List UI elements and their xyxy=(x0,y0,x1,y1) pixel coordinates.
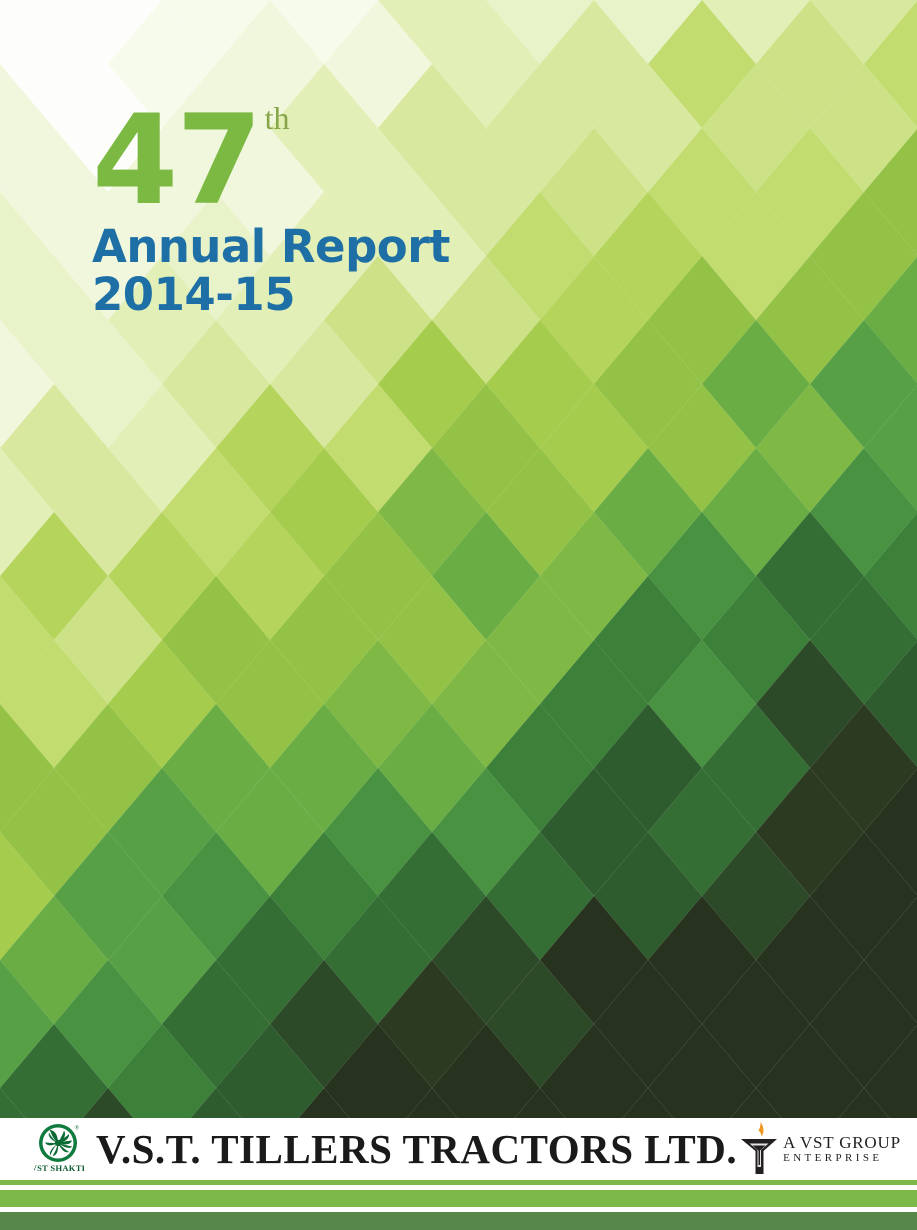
shakti-wordmark: VST SHAKTI xyxy=(34,1163,84,1173)
footer-brand-bar: ® VST SHAKTI V.S.T. TILLERS TRACTORS LTD… xyxy=(0,1118,917,1180)
cover-footer: ® VST SHAKTI V.S.T. TILLERS TRACTORS LTD… xyxy=(0,1118,917,1230)
ordinal-line: 47th xyxy=(92,104,450,218)
vst-shakti-swirl-icon: ® VST SHAKTI xyxy=(34,1121,84,1177)
footer-stripe-thick-dark-green xyxy=(0,1212,917,1230)
vst-group-torch-icon xyxy=(737,1121,781,1177)
ordinal-number: 47 xyxy=(92,104,261,218)
company-name: V.S.T. TILLERS TRACTORS LTD. xyxy=(96,1129,737,1170)
vst-shakti-logo: ® VST SHAKTI xyxy=(34,1121,84,1177)
vst-group-logo: A VST GROUP ENTERPRISE xyxy=(737,1121,901,1177)
page-title: Annual Report xyxy=(92,224,450,270)
vst-group-line-2: ENTERPRISE xyxy=(783,1152,901,1164)
annual-report-cover: 47th Annual Report 2014-15 xyxy=(0,0,917,1230)
vst-group-wordmark: A VST GROUP ENTERPRISE xyxy=(783,1133,901,1164)
footer-stripe-medium-light-green xyxy=(0,1190,917,1207)
report-period: 2014-15 xyxy=(92,272,450,318)
cover-title-block: 47th Annual Report 2014-15 xyxy=(92,104,450,318)
vst-group-line-1: A VST GROUP xyxy=(783,1133,901,1152)
shakti-trademark-symbol: ® xyxy=(75,1125,80,1132)
ordinal-suffix: th xyxy=(265,102,290,134)
